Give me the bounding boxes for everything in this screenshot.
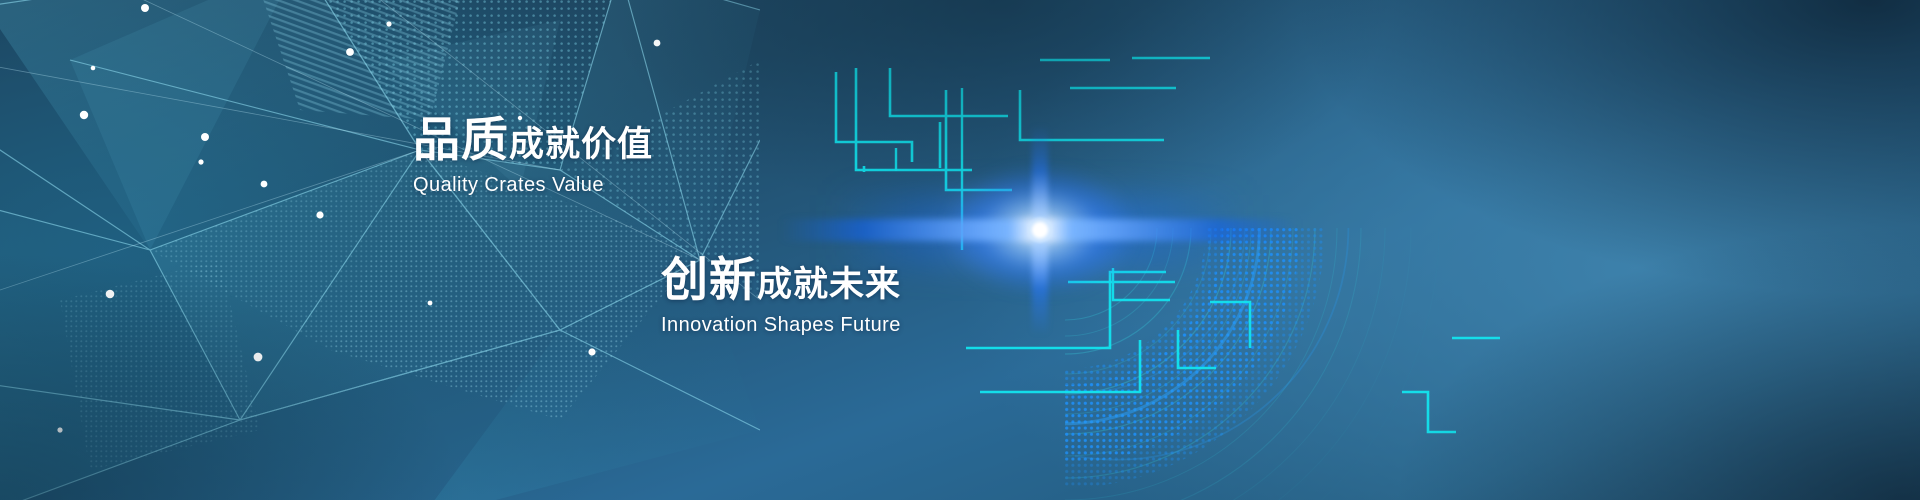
hero-banner: 品质 成就价值 Quality Crates Value 创新 成就未来 Inn…	[0, 0, 1920, 500]
slogan-quality-chinese: 品质 成就价值	[413, 116, 653, 163]
slogan-quality: 品质 成就价值 Quality Crates Value	[413, 116, 653, 197]
slogan-innovation-rest: 成就未来	[757, 267, 901, 303]
slogan-quality-emphasis: 品质	[413, 116, 509, 163]
slogan-innovation-chinese: 创新 成就未来	[661, 256, 901, 303]
slogan-innovation-english: Innovation Shapes Future	[661, 314, 901, 337]
slogan-innovation: 创新 成就未来 Innovation Shapes Future	[661, 256, 901, 337]
slogan-quality-english: Quality Crates Value	[413, 174, 653, 197]
slogan-innovation-emphasis: 创新	[661, 256, 757, 303]
slogan-quality-rest: 成就价值	[509, 127, 653, 163]
